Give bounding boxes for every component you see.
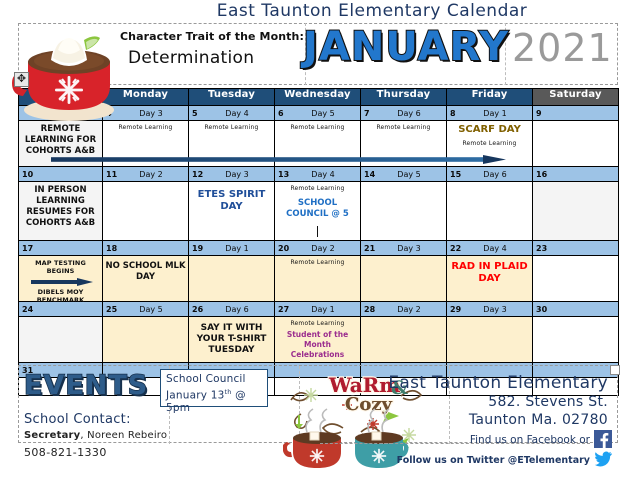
council-date-prefix: January 13 — [166, 390, 225, 402]
day-label: Day 3 — [390, 244, 446, 253]
event-cell-tue-w3[interactable] — [189, 256, 275, 302]
day-number: 20 — [278, 244, 304, 253]
remote-learning-text: Remote Learning — [449, 140, 530, 147]
event-cell-mon-w4[interactable] — [103, 317, 189, 363]
event-title: Student of the Month Celebrations — [277, 330, 358, 360]
daynum-cell-wed-w3[interactable]: 20Day 2 — [275, 241, 361, 256]
event-cell-sat-w1[interactable] — [533, 121, 619, 167]
daynum-cell-thu-w3[interactable]: 21Day 3 — [361, 241, 447, 256]
event-text-dibels: DIBELS MOY BENCHMARK — [19, 288, 102, 304]
daynum-cell-tue-w4[interactable]: 26Day 6 — [189, 302, 275, 317]
school-address-line-1: 582. Stevens St. — [278, 394, 608, 410]
character-trait-value: Determination — [128, 48, 254, 68]
event-cell-sun-w1[interactable]: REMOTE LEARNING FOR COHORTS A&B — [19, 121, 103, 167]
day-label: Day 4 — [476, 244, 532, 253]
twitter-icon[interactable] — [594, 451, 612, 467]
day-label: Day 2 — [390, 305, 446, 314]
remote-learning-text: Remote Learning — [277, 320, 358, 327]
week-3-number-row: 17 18 19Day 1 20Day 2 21Day 3 22Day 4 23 — [19, 241, 619, 256]
event-cell-sun-w3[interactable]: MAP TESTING BEGINS DIBELS MOY BENCHMARK — [19, 256, 103, 302]
month-heading: JANUARY — [303, 27, 509, 67]
day-number: 10 — [22, 170, 48, 179]
day-label: Day 1 — [218, 244, 274, 253]
remote-learning-text: Remote Learning — [277, 185, 358, 192]
daynum-cell-sat-w3[interactable]: 23 — [533, 241, 619, 256]
character-trait-label: Character Trait of the Month: — [120, 30, 304, 43]
column-header-tuesday: Tuesday — [189, 89, 275, 106]
daynum-cell-thu-w2[interactable]: 14Day 5 — [361, 167, 447, 182]
event-text: IN PERSON LEARNING RESUMES FOR COHORTS A… — [21, 185, 100, 229]
event-cell-thu-w4[interactable] — [361, 317, 447, 363]
remote-learning-text: Remote Learning — [363, 124, 444, 131]
day-label: Day 3 — [132, 109, 188, 118]
event-cell-wed-w4[interactable]: Remote LearningStudent of the Month Cele… — [275, 317, 361, 363]
daynum-cell-wed-w2[interactable]: 13Day 4 — [275, 167, 361, 182]
day-number: 9 — [536, 109, 562, 118]
day-number: 12 — [192, 170, 218, 179]
event-title: NO SCHOOL MLK DAY — [105, 261, 186, 283]
event-cell-fri-w2[interactable] — [447, 182, 533, 241]
event-cell-wed-w2[interactable]: Remote LearningSCHOOL COUNCIL @ 5 — [275, 182, 361, 241]
day-number: 18 — [106, 244, 132, 253]
daynum-cell-mon-w4[interactable]: 25Day 5 — [103, 302, 189, 317]
school-council-event-box[interactable]: School Council January 13th @ 5pm — [160, 369, 268, 407]
day-label: Day 5 — [132, 305, 188, 314]
remote-learning-arrow-icon — [51, 151, 506, 160]
day-label: Day 6 — [218, 305, 274, 314]
footer-resize-handle[interactable] — [610, 365, 620, 375]
day-number: 17 — [22, 244, 48, 253]
day-label: Day 2 — [132, 170, 188, 179]
week-2-body-row: IN PERSON LEARNING RESUMES FOR COHORTS A… — [19, 182, 619, 241]
event-cell-tue-w4[interactable]: SAY IT WITH YOUR T-SHIRT TUESDAY — [189, 317, 275, 363]
day-label: Day 1 — [304, 305, 360, 314]
daynum-cell-wed-w1[interactable]: 6Day 5 — [275, 106, 361, 121]
secretary-role: Secretary — [24, 430, 80, 441]
event-cell-mon-w3[interactable]: NO SCHOOL MLK DAY — [103, 256, 189, 302]
day-number: 19 — [192, 244, 218, 253]
daynum-cell-thu-w1[interactable]: 7Day 6 — [361, 106, 447, 121]
event-cell-fri-w3[interactable]: RAD IN PLAID DAY — [447, 256, 533, 302]
day-label: Day 4 — [304, 170, 360, 179]
daynum-cell-wed-w4[interactable]: 27Day 1 — [275, 302, 361, 317]
school-phone: 508-821-1330 — [24, 446, 107, 459]
event-cell-mon-w2[interactable] — [103, 182, 189, 241]
event-cell-wed-w3[interactable]: Remote Learning — [275, 256, 361, 302]
daynum-cell-fri-w4[interactable]: 29Day 3 — [447, 302, 533, 317]
day-number: 8 — [450, 109, 476, 118]
daynum-cell-sat-w2[interactable]: 16 — [533, 167, 619, 182]
event-cell-tue-w2[interactable]: ETES SPIRIT DAY — [189, 182, 275, 241]
council-date-ordinal: th — [225, 388, 232, 396]
daynum-cell-sun-w2[interactable]: 10 — [19, 167, 103, 182]
event-title: RAD IN PLAID DAY — [449, 261, 530, 285]
daynum-cell-sat-w1[interactable]: 9 — [533, 106, 619, 121]
events-heading: EVENTS — [24, 372, 148, 399]
day-label: Day 5 — [390, 170, 446, 179]
day-number: 22 — [450, 244, 476, 253]
day-number: 29 — [450, 305, 476, 314]
column-header-friday: Friday — [447, 89, 533, 106]
secretary-name: , Noreen Rebeiro — [80, 430, 167, 441]
move-handle-icon[interactable]: ✥ — [14, 72, 29, 87]
event-cell-sat-w2[interactable] — [533, 182, 619, 241]
calendar-table: Monday Tuesday Wednesday Thursday Friday… — [18, 88, 619, 396]
week-1-body-row: REMOTE LEARNING FOR COHORTS A&B Remote L… — [19, 121, 619, 167]
daynum-cell-sat-w4[interactable]: 30 — [533, 302, 619, 317]
event-cell-thu-w2[interactable] — [361, 182, 447, 241]
daynum-cell-tue-w1[interactable]: 5Day 4 — [189, 106, 275, 121]
year-heading: 2021 — [512, 29, 613, 67]
day-label: Day 6 — [476, 170, 532, 179]
day-label: Day 1 — [476, 109, 532, 118]
day-label: Day 3 — [218, 170, 274, 179]
event-title: SCHOOL COUNCIL @ 5 — [277, 198, 358, 220]
week-2-number-row: 10 11Day 2 12Day 3 13Day 4 14Day 5 15Day… — [19, 167, 619, 182]
day-number: 6 — [278, 109, 304, 118]
day-number: 26 — [192, 305, 218, 314]
day-number: 13 — [278, 170, 304, 179]
remote-learning-text: Remote Learning — [191, 124, 272, 131]
daynum-cell-tue-w2[interactable]: 12Day 3 — [189, 167, 275, 182]
day-label: Day 4 — [218, 109, 274, 118]
day-number: 11 — [106, 170, 132, 179]
day-label: Day 2 — [304, 244, 360, 253]
day-number: 5 — [192, 109, 218, 118]
secretary-line: Secretary, Noreen Rebeiro — [24, 430, 167, 441]
facebook-text: Find us on Facebook or — [290, 434, 590, 446]
day-number: 25 — [106, 305, 132, 314]
school-address-line-2: Taunton Ma. 02780 — [278, 412, 608, 428]
column-header-wednesday: Wednesday — [275, 89, 361, 106]
text-cursor — [317, 226, 318, 237]
week-4-body-row: SAY IT WITH YOUR T-SHIRT TUESDAY Remote … — [19, 317, 619, 363]
day-number: 21 — [364, 244, 390, 253]
twitter-text: Follow us on Twitter @ETelementary — [290, 455, 590, 466]
hot-cocoa-cup-icon — [6, 18, 124, 123]
remote-learning-text: Remote Learning — [277, 259, 358, 266]
event-cell-sun-w4[interactable] — [19, 317, 103, 363]
event-cell-thu-w3[interactable] — [361, 256, 447, 302]
event-cell-sun-w2[interactable]: IN PERSON LEARNING RESUMES FOR COHORTS A… — [19, 182, 103, 241]
week-4-number-row: 24 25Day 5 26Day 6 27Day 1 28Day 2 29Day… — [19, 302, 619, 317]
day-number: 7 — [364, 109, 390, 118]
week-3-body-row: MAP TESTING BEGINS DIBELS MOY BENCHMARK … — [19, 256, 619, 302]
daynum-cell-fri-w2[interactable]: 15Day 6 — [447, 167, 533, 182]
day-label: Day 5 — [304, 109, 360, 118]
day-number: 23 — [536, 244, 562, 253]
school-council-title: School Council — [166, 373, 262, 385]
school-council-datetime: January 13th @ 5pm — [166, 388, 262, 414]
event-title: SAY IT WITH YOUR T-SHIRT TUESDAY — [191, 323, 272, 356]
column-header-saturday: Saturday — [533, 89, 619, 106]
daynum-cell-thu-w4[interactable]: 28Day 2 — [361, 302, 447, 317]
map-testing-arrow-icon — [31, 273, 93, 281]
remote-learning-text: Remote Learning — [277, 124, 358, 131]
column-header-thursday: Thursday — [361, 89, 447, 106]
daynum-cell-sun-w3[interactable]: 17 — [19, 241, 103, 256]
day-number: 15 — [450, 170, 476, 179]
daynum-cell-fri-w3[interactable]: 22Day 4 — [447, 241, 533, 256]
day-number: 28 — [364, 305, 390, 314]
day-number: 30 — [536, 305, 562, 314]
event-cell-fri-w4[interactable] — [447, 317, 533, 363]
daynum-cell-mon-w3[interactable]: 18 — [103, 241, 189, 256]
daynum-cell-tue-w3[interactable]: 19Day 1 — [189, 241, 275, 256]
event-cell-sat-w4[interactable] — [533, 317, 619, 363]
remote-learning-text: Remote Learning — [105, 124, 186, 131]
event-cell-sat-w3[interactable] — [533, 256, 619, 302]
day-number: 14 — [364, 170, 390, 179]
day-number: 16 — [536, 170, 562, 179]
school-contact-label: School Contact: — [24, 412, 131, 427]
day-number: 24 — [22, 305, 48, 314]
event-title: ETES SPIRIT DAY — [191, 189, 272, 213]
day-label: Day 6 — [390, 109, 446, 118]
daynum-cell-mon-w2[interactable]: 11Day 2 — [103, 167, 189, 182]
event-title: SCARF DAY — [449, 124, 530, 136]
day-number: 27 — [278, 305, 304, 314]
day-label: Day 3 — [476, 305, 532, 314]
daynum-cell-fri-w1[interactable]: 8Day 1 — [447, 106, 533, 121]
facebook-icon[interactable] — [594, 430, 612, 448]
school-name: East Taunton Elementary — [278, 373, 608, 393]
